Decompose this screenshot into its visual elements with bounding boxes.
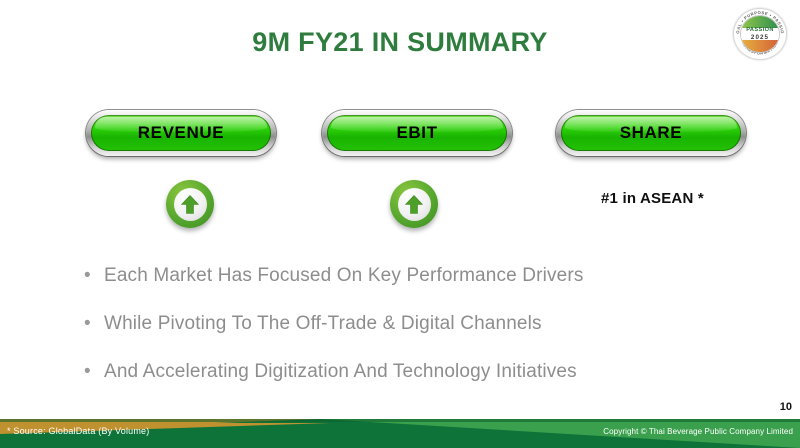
metric-button-revenue-label: REVENUE bbox=[138, 123, 224, 143]
metric-button-share-label: SHARE bbox=[620, 123, 683, 143]
arrow-up-icon-disc bbox=[398, 188, 431, 221]
footer-copyright: Copyright © Thai Beverage Public Company… bbox=[603, 427, 793, 436]
arrow-up-icon-disc bbox=[174, 188, 207, 221]
bullet-text: While Pivoting To The Off-Trade & Digita… bbox=[104, 310, 542, 337]
bullet-text: Each Market Has Focused On Key Performan… bbox=[104, 262, 584, 289]
arrow-up-icon-glyph bbox=[180, 194, 200, 215]
metric-button-ebit[interactable]: EBIT bbox=[322, 110, 512, 156]
bullet-marker: • bbox=[84, 310, 104, 337]
list-item: • Each Market Has Focused On Key Perform… bbox=[84, 262, 744, 289]
page-number: 10 bbox=[780, 401, 792, 413]
metric-button-revenue[interactable]: REVENUE bbox=[86, 110, 276, 156]
arrow-up-icon-glyph bbox=[404, 194, 424, 215]
metric-button-ebit-label: EBIT bbox=[396, 123, 437, 143]
arrow-up-icon bbox=[390, 180, 438, 228]
list-item: • While Pivoting To The Off-Trade & Digi… bbox=[84, 310, 744, 337]
bullet-marker: • bbox=[84, 262, 104, 289]
metric-button-share-face: SHARE bbox=[561, 115, 741, 151]
slide-canvas: GOAL • PURPOSE • PASSION TRANSFORMATION … bbox=[0, 0, 800, 448]
metric-button-revenue-face: REVENUE bbox=[91, 115, 271, 151]
bullet-text: And Accelerating Digitization And Techno… bbox=[104, 358, 577, 385]
list-item: • And Accelerating Digitization And Tech… bbox=[84, 358, 744, 385]
page-title: 9M FY21 IN SUMMARY bbox=[0, 27, 800, 58]
metric-button-ebit-face: EBIT bbox=[327, 115, 507, 151]
bullet-marker: • bbox=[84, 358, 104, 385]
footer-top-edge bbox=[0, 419, 800, 422]
arrow-up-icon bbox=[166, 180, 214, 228]
share-ranking-note: #1 in ASEAN * bbox=[601, 190, 704, 207]
metric-button-share[interactable]: SHARE bbox=[556, 110, 746, 156]
footer-bar: * Source: GlobalData (By Volume) Copyrig… bbox=[0, 419, 800, 448]
bullet-list: • Each Market Has Focused On Key Perform… bbox=[84, 262, 744, 406]
footer-source-note: * Source: GlobalData (By Volume) bbox=[7, 426, 149, 436]
